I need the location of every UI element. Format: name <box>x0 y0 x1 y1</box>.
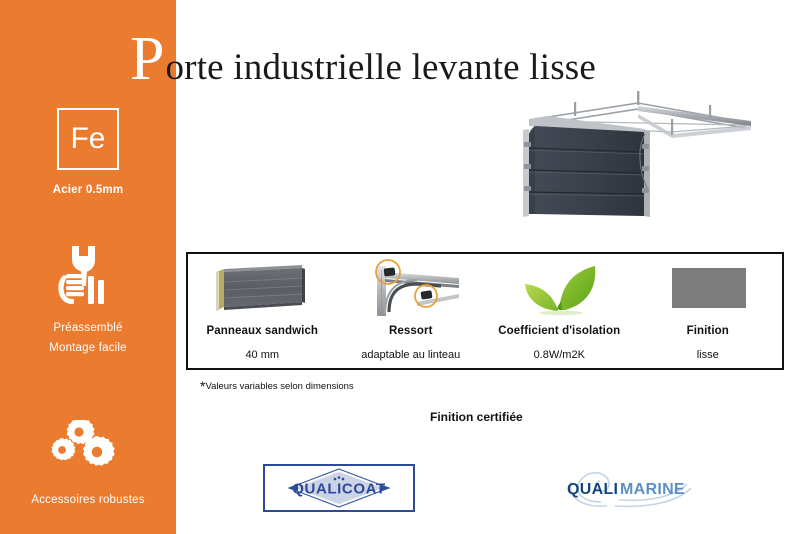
sidebar-label-preassembled: Préassemblé <box>0 318 176 338</box>
feature-column-finish: Finition lisse <box>634 254 783 368</box>
sandwich-panel-icon <box>188 258 337 320</box>
footnote: *Valeurs variables selon dimensions <box>200 381 354 392</box>
feature-value-finish: lisse <box>697 349 719 361</box>
page-title-rest: orte industrielle levante lisse <box>165 42 596 94</box>
feature-value-panel: 40 mm <box>245 349 279 361</box>
qualimarine-wordmark-light: MARINE <box>620 481 685 498</box>
certification-heading: Finition certifiée <box>430 410 523 424</box>
feature-title-insulation: Coefficient d'isolation <box>498 325 620 337</box>
sectional-industrial-door-photo <box>505 88 790 220</box>
green-leaves-icon <box>485 258 634 320</box>
sidebar-item-steel: Fe Acier 0.5mm <box>0 108 176 200</box>
spring-mechanism-icon <box>337 258 486 320</box>
feature-title-finish: Finition <box>687 325 729 337</box>
feature-value-insulation: 0.8W/m2K <box>534 349 585 361</box>
sidebar-item-preassembled: Préassemblé Montage facile <box>0 244 176 358</box>
sidebar-label-steel: Acier 0.5mm <box>0 180 176 200</box>
feature-value-spring: adaptable au linteau <box>361 349 460 361</box>
gears-icon <box>0 420 176 482</box>
qualimarine-wordmark-bold: QUALI <box>567 481 618 498</box>
qualimarine-logo: QUALI MARINE <box>557 462 709 512</box>
hand-wrench-icon <box>0 244 176 306</box>
feature-specs-box: Panneaux sandwich 40 mm <box>186 252 784 370</box>
fe-element-box-icon: Fe <box>57 108 119 170</box>
feature-title-panel: Panneaux sandwich <box>206 325 318 337</box>
slide-canvas: Fe Acier 0.5mm <box>0 0 800 534</box>
page-title-initial: P <box>130 28 164 90</box>
page-title: P orte industrielle levante lisse <box>130 28 596 90</box>
footnote-text: Valeurs variables selon dimensions <box>205 381 353 392</box>
sidebar-label-easy-assembly: Montage facile <box>0 338 176 358</box>
sidebar-label-accessories: Accessoires robustes <box>0 490 176 510</box>
feature-column-insulation: Coefficient d'isolation 0.8W/m2K <box>485 254 634 368</box>
fe-symbol-text: Fe <box>70 124 105 154</box>
sidebar-item-accessories: Accessoires robustes <box>0 420 176 510</box>
feature-title-spring: Ressort <box>389 325 433 337</box>
qualicoat-wordmark: QUALICOAT <box>292 481 385 498</box>
feature-column-panel: Panneaux sandwich 40 mm <box>188 254 337 368</box>
qualicoat-logo: QUALICOAT <box>263 464 415 512</box>
finish-swatch-icon <box>634 258 783 320</box>
feature-column-spring: Ressort adaptable au linteau <box>337 254 486 368</box>
